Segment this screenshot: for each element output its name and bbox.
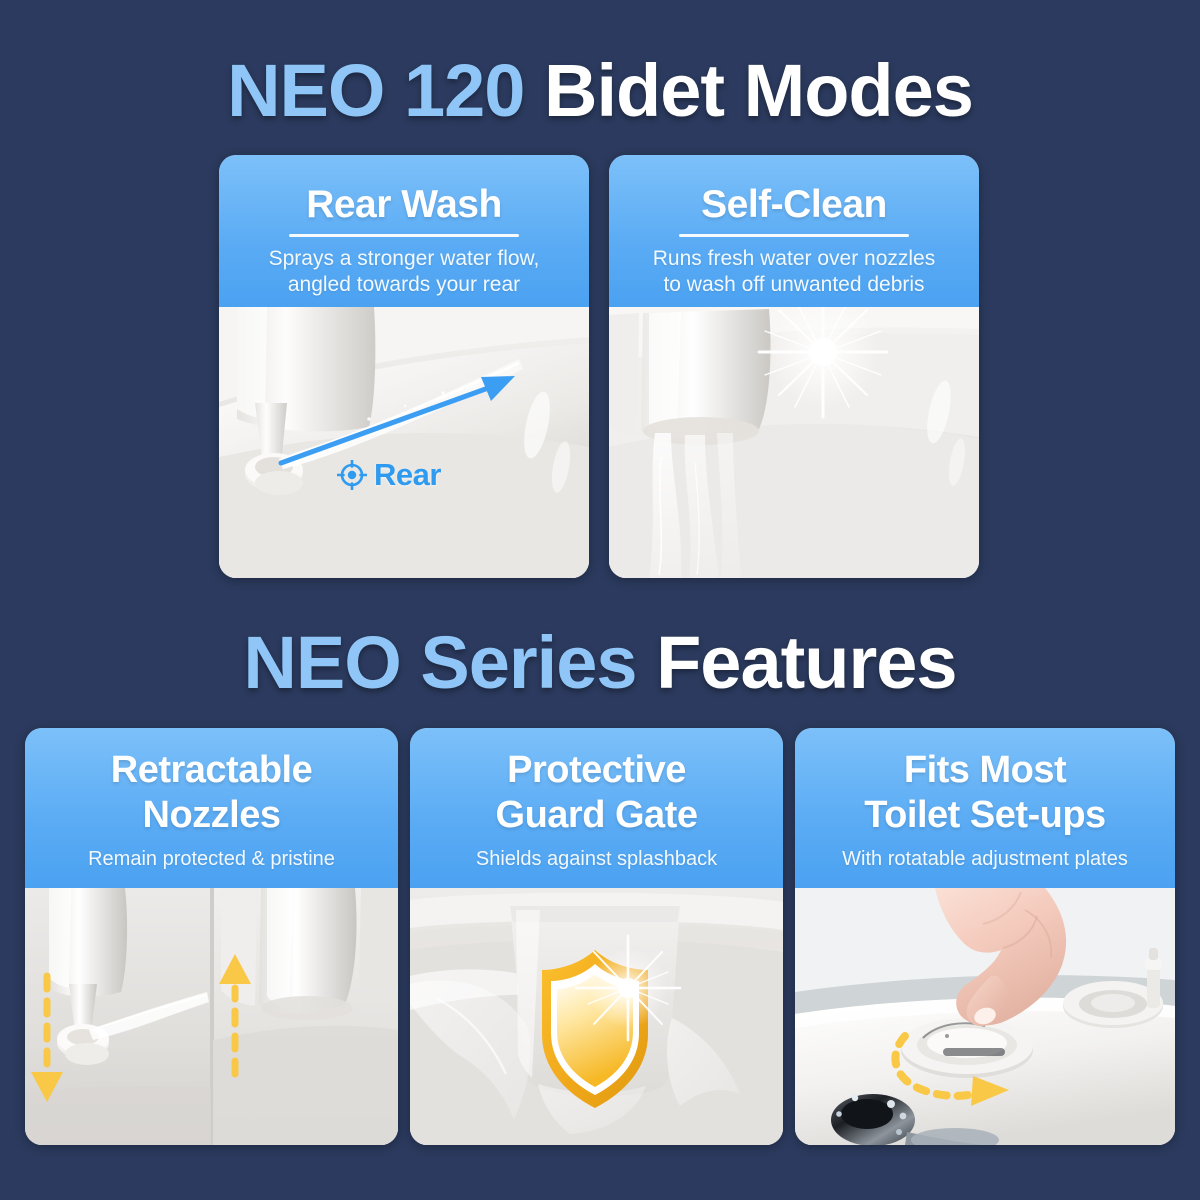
card-header-rear-wash: Rear Wash Sprays a stronger water flow, … — [219, 155, 589, 307]
guard-gate-illustration — [410, 888, 783, 1145]
feature-card-protective-guard-gate[interactable]: Protective Guard Gate Shields against sp… — [410, 728, 783, 1145]
card-title-rear-wash: Rear Wash — [229, 183, 579, 227]
card-header-fits-most: Fits Most Toilet Set-ups With rotatable … — [795, 728, 1175, 888]
card-photo-retractable-nozzles — [25, 888, 398, 1145]
card-photo-protective-guard-gate — [410, 888, 783, 1145]
feature-card-self-clean[interactable]: Self-Clean Runs fresh water over nozzles… — [609, 155, 979, 578]
section-heading-neo-series-features: NEO Series Features — [0, 620, 1200, 706]
crosshair-target-icon — [337, 460, 367, 490]
title-divider — [289, 234, 519, 237]
card-title-line2: Nozzles — [35, 793, 388, 838]
card-subtitle-line1: Sprays a stronger water flow, — [229, 246, 579, 272]
card-photo-self-clean — [609, 307, 979, 578]
fits-most-illustration — [795, 888, 1175, 1145]
card-header-self-clean: Self-Clean Runs fresh water over nozzles… — [609, 155, 979, 307]
card-subtitle-line2: to wash off unwanted debris — [619, 272, 969, 298]
card-subtitle-line1: With rotatable adjustment plates — [805, 847, 1165, 871]
card-subtitle-line1: Remain protected & pristine — [35, 847, 388, 871]
product-feature-infographic: NEO 120 Bidet Modes Rear Wash Sprays a s… — [0, 0, 1200, 1200]
title-divider — [679, 234, 909, 237]
heading-accent-text: NEO Series — [243, 621, 636, 704]
section-heading-bidet-modes: NEO 120 Bidet Modes — [0, 48, 1200, 134]
card-title-line1: Retractable — [35, 748, 388, 793]
card-subtitle-line2: angled towards your rear — [229, 272, 579, 298]
card-header-retractable-nozzles: Retractable Nozzles Remain protected & p… — [25, 728, 398, 888]
heading-main-text-value: Bidet Modes — [544, 49, 973, 132]
card-photo-fits-most — [795, 888, 1175, 1145]
card-title-self-clean: Self-Clean — [619, 183, 969, 227]
self-clean-illustration — [609, 307, 979, 578]
heading-main-text-value: Features — [656, 621, 956, 704]
card-subtitle-line1: Shields against splashback — [420, 847, 773, 871]
heading-accent-text: NEO 120 — [227, 49, 524, 132]
feature-card-retractable-nozzles[interactable]: Retractable Nozzles Remain protected & p… — [25, 728, 398, 1145]
retractable-nozzles-illustration — [25, 888, 398, 1145]
card-subtitle-line1: Runs fresh water over nozzles — [619, 246, 969, 272]
card-title-line2: Guard Gate — [420, 793, 773, 838]
card-header-protective-guard-gate: Protective Guard Gate Shields against sp… — [410, 728, 783, 888]
heading-main-text — [524, 49, 544, 132]
card-title-line2: Toilet Set-ups — [805, 793, 1165, 838]
rear-target-label-text: Rear — [374, 457, 441, 493]
card-title-line1: Protective — [420, 748, 773, 793]
feature-card-rear-wash[interactable]: Rear Wash Sprays a stronger water flow, … — [219, 155, 589, 578]
rear-target-label: Rear — [337, 457, 441, 493]
heading-space — [637, 621, 657, 704]
rear-wash-illustration — [219, 307, 589, 578]
card-photo-rear-wash: Rear — [219, 307, 589, 578]
feature-card-fits-most-toilet-set-ups[interactable]: Fits Most Toilet Set-ups With rotatable … — [795, 728, 1175, 1145]
card-title-line1: Fits Most — [805, 748, 1165, 793]
